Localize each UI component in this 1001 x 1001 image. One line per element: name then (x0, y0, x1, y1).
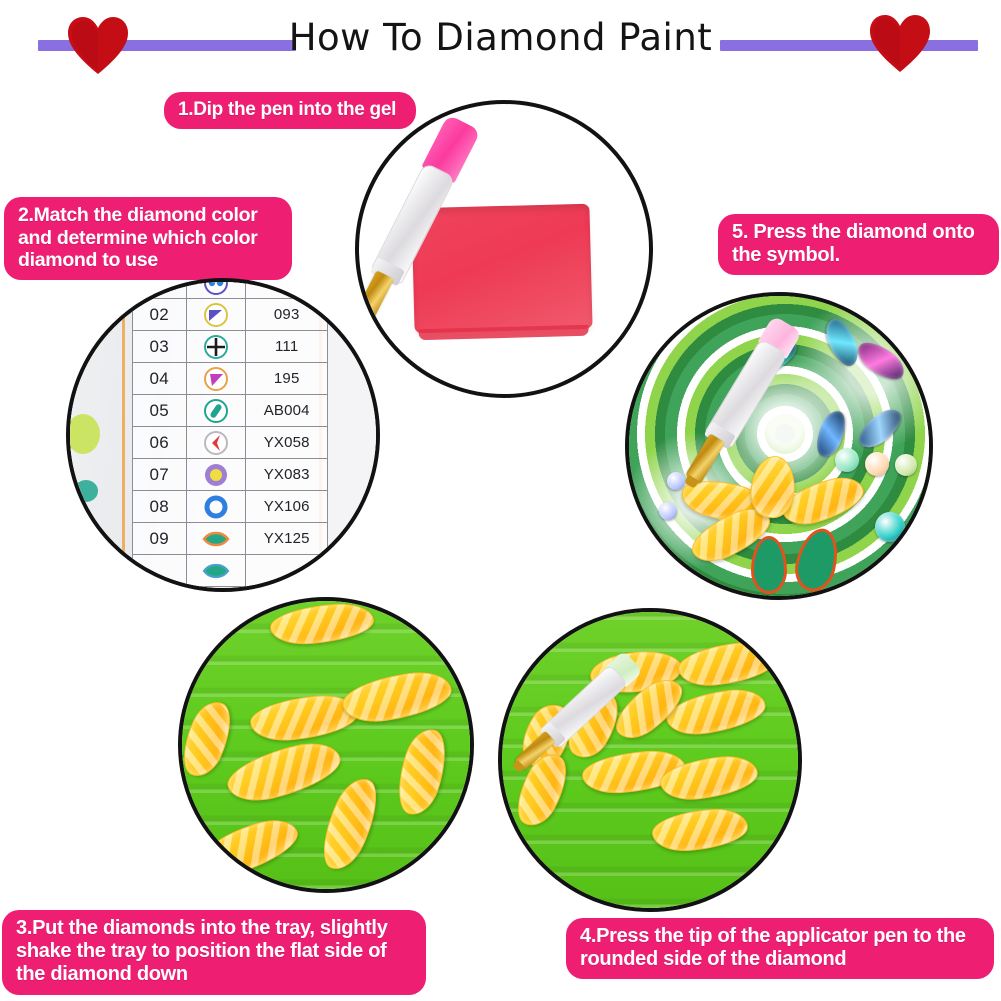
gem (659, 502, 677, 520)
chart-symbol (186, 427, 246, 459)
slanted-capsule-icon (187, 395, 246, 426)
table-row: 07 YX083 (133, 459, 328, 491)
pen-tip (684, 433, 725, 485)
table-row: 03 111 (133, 331, 328, 363)
chart-code: YX106 (246, 491, 328, 523)
gem (852, 335, 909, 387)
chart-symbol (186, 491, 246, 523)
step-2-label: 2.Match the diamond color and determine … (4, 197, 292, 280)
printed-symbol (790, 524, 844, 596)
step-2-photo: 028 02 093 (66, 278, 380, 592)
diamond (388, 724, 455, 821)
table-row: 05 AB004 (133, 395, 328, 427)
chart-symbol (186, 331, 246, 363)
chart-number: 08 (133, 491, 187, 523)
gem (821, 315, 863, 371)
table-row (133, 555, 328, 587)
chart-number (133, 278, 187, 299)
left-chevron-icon (187, 427, 246, 458)
canvas-color-blob (66, 414, 100, 454)
chart-number (133, 555, 187, 587)
double-drop-icon (187, 278, 246, 298)
gel-dip-scene (359, 104, 649, 394)
chart-number: 02 (133, 299, 187, 331)
pen-pickup-scene (502, 612, 798, 908)
chart-symbol (186, 299, 246, 331)
chart-rows: 028 02 093 (133, 278, 328, 587)
chart-symbol (186, 555, 246, 587)
diamond (178, 695, 241, 783)
chart-code: AB004 (246, 395, 328, 427)
filled-dot-ring-icon (187, 459, 246, 490)
step-3-photo (178, 597, 474, 893)
chart-code: YX058 (246, 427, 328, 459)
chart-number: 06 (133, 427, 187, 459)
diamond (339, 668, 454, 727)
chart-code (246, 555, 328, 587)
table-row: 028 (133, 278, 328, 299)
diamond-tray-scene (182, 601, 470, 889)
triangle-flag-icon (187, 299, 246, 330)
chart-margin-line (122, 282, 125, 588)
chart-number: 07 (133, 459, 187, 491)
chart-code: YX083 (246, 459, 328, 491)
diamond (676, 639, 778, 689)
canvas-color-blob (74, 480, 98, 502)
chart-code: 093 (246, 299, 328, 331)
chart-number: 04 (133, 363, 187, 395)
diamond (269, 601, 375, 646)
table-row: 06 YX058 (133, 427, 328, 459)
diamond (222, 736, 346, 809)
step-4-label: 4.Press the tip of the applicator pen to… (566, 918, 994, 979)
chart-number: 05 (133, 395, 187, 427)
diamond (192, 812, 304, 884)
chart-number: 03 (133, 331, 187, 363)
chart-code: YX125 (246, 523, 328, 555)
printed-symbol (751, 536, 787, 594)
color-chart-scene: 028 02 093 (70, 282, 376, 588)
step-5-label: 5. Press the diamond onto the symbol. (718, 214, 999, 275)
page-title: How To Diamond Paint (0, 16, 1001, 59)
plus-cross-icon (187, 331, 246, 362)
diamond-color-chart-table: 028 02 093 (132, 278, 328, 587)
chart-code: 111 (246, 331, 328, 363)
step-5-photo (625, 292, 933, 600)
gem (895, 454, 917, 476)
canvas-scene (629, 296, 929, 596)
leaf-outline-icon (187, 523, 246, 554)
gem (853, 403, 908, 453)
chart-symbol (186, 395, 246, 427)
page-header: How To Diamond Paint (0, 0, 1001, 88)
gem (835, 448, 859, 472)
open-ring-icon (187, 491, 246, 522)
table-row: 08 YX106 (133, 491, 328, 523)
diamond (651, 807, 750, 854)
table-row: 02 093 (133, 299, 328, 331)
chart-number: 09 (133, 523, 187, 555)
chart-symbol (186, 278, 246, 299)
diamond (311, 772, 388, 877)
chart-symbol (186, 363, 246, 395)
step-3-label: 3.Put the diamonds into the tray, slight… (2, 910, 426, 995)
chart-code: 195 (246, 363, 328, 395)
gem (865, 452, 889, 476)
chart-symbol (186, 523, 246, 555)
step-1-photo (355, 100, 653, 398)
gem (875, 512, 905, 542)
chart-symbol (186, 459, 246, 491)
leaf-outline-icon (187, 555, 246, 586)
red-gel-pad (411, 204, 592, 334)
chart-code: 028 (246, 278, 328, 299)
triangle-flag-icon (187, 363, 246, 394)
step-4-photo (498, 608, 802, 912)
table-row: 09 YX125 (133, 523, 328, 555)
table-row: 04 195 (133, 363, 328, 395)
infographic-page: How To Diamond Paint 1.Dip the pen into … (0, 0, 1001, 1001)
